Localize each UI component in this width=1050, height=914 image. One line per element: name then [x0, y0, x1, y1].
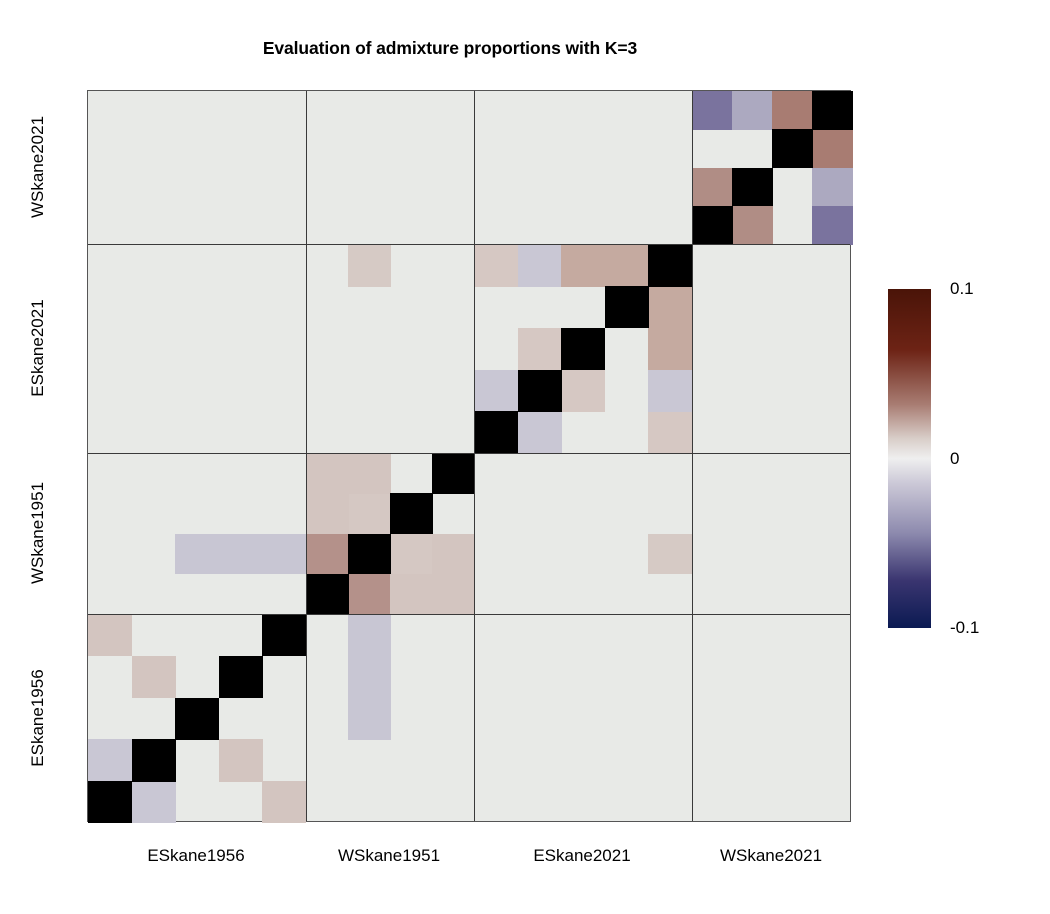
group-separator-vertical	[474, 91, 475, 821]
heatmap-cell	[812, 129, 853, 168]
colorbar-tick-0: 0.1	[950, 279, 974, 299]
heatmap-diagonal-cell	[175, 698, 219, 740]
heatmap-diagonal-cell	[648, 244, 692, 286]
heatmap-cell	[348, 656, 391, 698]
heatmap-diagonal-cell	[306, 574, 349, 615]
heatmap-cell	[692, 91, 733, 130]
heatmap-diagonal-cell	[432, 453, 475, 494]
heatmap-cell	[648, 370, 692, 412]
x-axis-label-eskane1956: ESkane1956	[87, 846, 305, 866]
heatmap-cell	[561, 370, 605, 412]
heatmap-cell	[561, 244, 605, 286]
heatmap-cell	[348, 614, 391, 656]
heatmap-diagonal-cell	[605, 286, 649, 328]
x-axis-label-wskane1951: WSkane1951	[305, 846, 473, 866]
heatmap-cell	[132, 781, 176, 823]
heatmap-cell	[306, 534, 349, 575]
heatmap-diagonal-cell	[132, 739, 176, 781]
group-separator-horizontal	[88, 614, 850, 615]
heatmap-cell	[432, 534, 475, 575]
heatmap-cell	[348, 698, 391, 740]
heatmap-cell	[812, 206, 853, 245]
heatmap-cell	[390, 534, 433, 575]
heatmap-cells	[88, 91, 850, 821]
chart-title: Evaluation of admixture proportions with…	[0, 38, 900, 59]
heatmap-cell	[518, 244, 562, 286]
heatmap-cell	[348, 574, 391, 615]
heatmap-cell	[648, 286, 692, 328]
heatmap-cell	[648, 411, 692, 453]
heatmap-cell	[219, 534, 263, 575]
heatmap-cell	[432, 574, 475, 615]
heatmap-diagonal-cell	[732, 168, 773, 207]
heatmap-cell	[812, 168, 853, 207]
heatmap-cell	[474, 244, 518, 286]
heatmap-diagonal-cell	[88, 781, 132, 823]
y-axis-label-eskane1956: ESkane1956	[28, 613, 48, 822]
colorbar-gradient	[888, 289, 931, 628]
y-axis-label-wskane2021: WSkane2021	[28, 90, 48, 243]
heatmap-cell	[306, 453, 349, 494]
colorbar-tick-2: -0.1	[950, 618, 979, 638]
heatmap-diagonal-cell	[262, 614, 306, 656]
heatmap-diagonal-cell	[390, 493, 433, 534]
x-axis-label-wskane2021: WSkane2021	[691, 846, 851, 866]
colorbar-tick-1: 0	[950, 449, 959, 469]
group-separator-vertical	[692, 91, 693, 821]
heatmap-cell	[474, 370, 518, 412]
y-axis-label-eskane2021: ESkane2021	[28, 243, 48, 452]
heatmap-diagonal-cell	[474, 411, 518, 453]
heatmap-cell	[348, 493, 391, 534]
heatmap-diagonal-cell	[812, 91, 853, 130]
heatmap-plot-area[interactable]	[87, 90, 851, 822]
heatmap-diagonal-cell	[219, 656, 263, 698]
heatmap-diagonal-cell	[518, 370, 562, 412]
heatmap-cell	[132, 656, 176, 698]
heatmap-cell	[348, 453, 391, 494]
group-separator-horizontal	[88, 244, 850, 245]
heatmap-cell	[88, 739, 132, 781]
heatmap-cell	[732, 206, 773, 245]
heatmap-cell	[306, 493, 349, 534]
heatmap-cell	[262, 534, 306, 575]
heatmap-diagonal-cell	[348, 534, 391, 575]
heatmap-cell	[88, 614, 132, 656]
heatmap-cell	[518, 411, 562, 453]
heatmap-cell	[175, 534, 219, 575]
y-axis-label-wskane1951: WSkane1951	[28, 452, 48, 613]
heatmap-cell	[605, 244, 649, 286]
heatmap-cell	[262, 781, 306, 823]
group-separator-horizontal	[88, 453, 850, 454]
heatmap-diagonal-cell	[692, 206, 733, 245]
heatmap-cell	[219, 739, 263, 781]
heatmap-cell	[518, 328, 562, 370]
heatmap-cell	[772, 91, 813, 130]
heatmap-cell	[692, 168, 733, 207]
figure-canvas: Evaluation of admixture proportions with…	[0, 0, 1050, 914]
heatmap-diagonal-cell	[561, 328, 605, 370]
colorbar[interactable]	[888, 289, 931, 628]
heatmap-cell	[390, 574, 433, 615]
group-separator-vertical	[306, 91, 307, 821]
x-axis-label-eskane2021: ESkane2021	[473, 846, 691, 866]
heatmap-cell	[648, 534, 692, 575]
heatmap-cell	[648, 328, 692, 370]
heatmap-cell	[348, 244, 391, 286]
heatmap-cell	[732, 91, 773, 130]
heatmap-diagonal-cell	[772, 129, 813, 168]
